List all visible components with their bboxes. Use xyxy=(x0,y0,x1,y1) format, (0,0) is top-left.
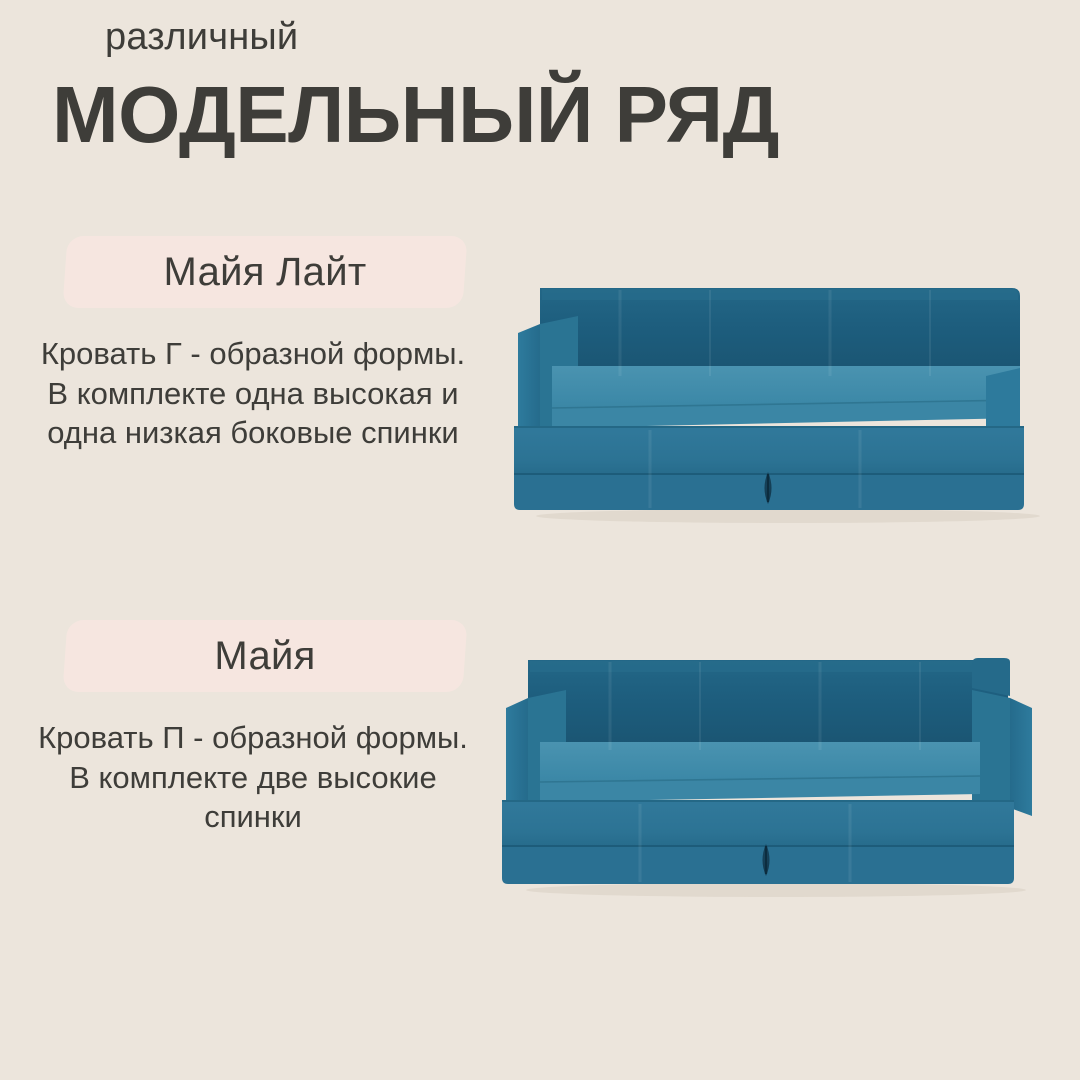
header-eyebrow: различный xyxy=(105,18,952,56)
product-name-badge: Майя xyxy=(18,620,488,692)
sofa-illustration-u-shaped xyxy=(480,632,1060,902)
product-description: Кровать П - образной формы. В комплекте … xyxy=(18,718,488,837)
floor-shadow xyxy=(536,509,1040,523)
page-header: различный МОДЕЛЬНЫЙ РЯД xyxy=(52,18,952,158)
product-image-maya-lite xyxy=(500,258,1060,533)
base-upper-band xyxy=(502,800,1014,846)
product-description: Кровать Г - образной формы. В комплекте … xyxy=(18,334,488,453)
base-lower-drawer xyxy=(502,846,1014,884)
page-title: МОДЕЛЬНЫЙ РЯД xyxy=(52,72,952,158)
backrest-highlight xyxy=(530,661,1006,672)
product-name-label: Майя xyxy=(65,620,465,692)
product-name-badge: Майя Лайт xyxy=(18,236,488,308)
floor-shadow xyxy=(526,883,1026,897)
product-card-maya: Майя Кровать П - образной формы. В компл… xyxy=(0,620,1080,920)
poster-canvas: различный МОДЕЛЬНЫЙ РЯД Майя Лайт Кроват… xyxy=(0,0,1080,1080)
product-name-label: Майя Лайт xyxy=(65,236,465,308)
backrest-panel xyxy=(528,660,1008,752)
product-image-maya xyxy=(480,632,1060,907)
sofa-illustration-l-shaped xyxy=(500,258,1060,528)
base-upper-band xyxy=(514,426,1024,474)
right-armrest-outer-panel xyxy=(1010,698,1032,816)
product-text-column: Майя Лайт Кровать Г - образной формы. В … xyxy=(18,236,488,453)
backrest-panel xyxy=(540,288,1020,378)
left-armrest-outer-panel xyxy=(506,698,528,816)
right-low-side-panel xyxy=(986,368,1020,434)
backrest-highlight xyxy=(542,289,1018,300)
product-text-column: Майя Кровать П - образной формы. В компл… xyxy=(18,620,488,837)
left-armrest-outer-panel xyxy=(518,324,540,441)
product-card-maya-lite: Майя Лайт Кровать Г - образной формы. В … xyxy=(0,236,1080,536)
